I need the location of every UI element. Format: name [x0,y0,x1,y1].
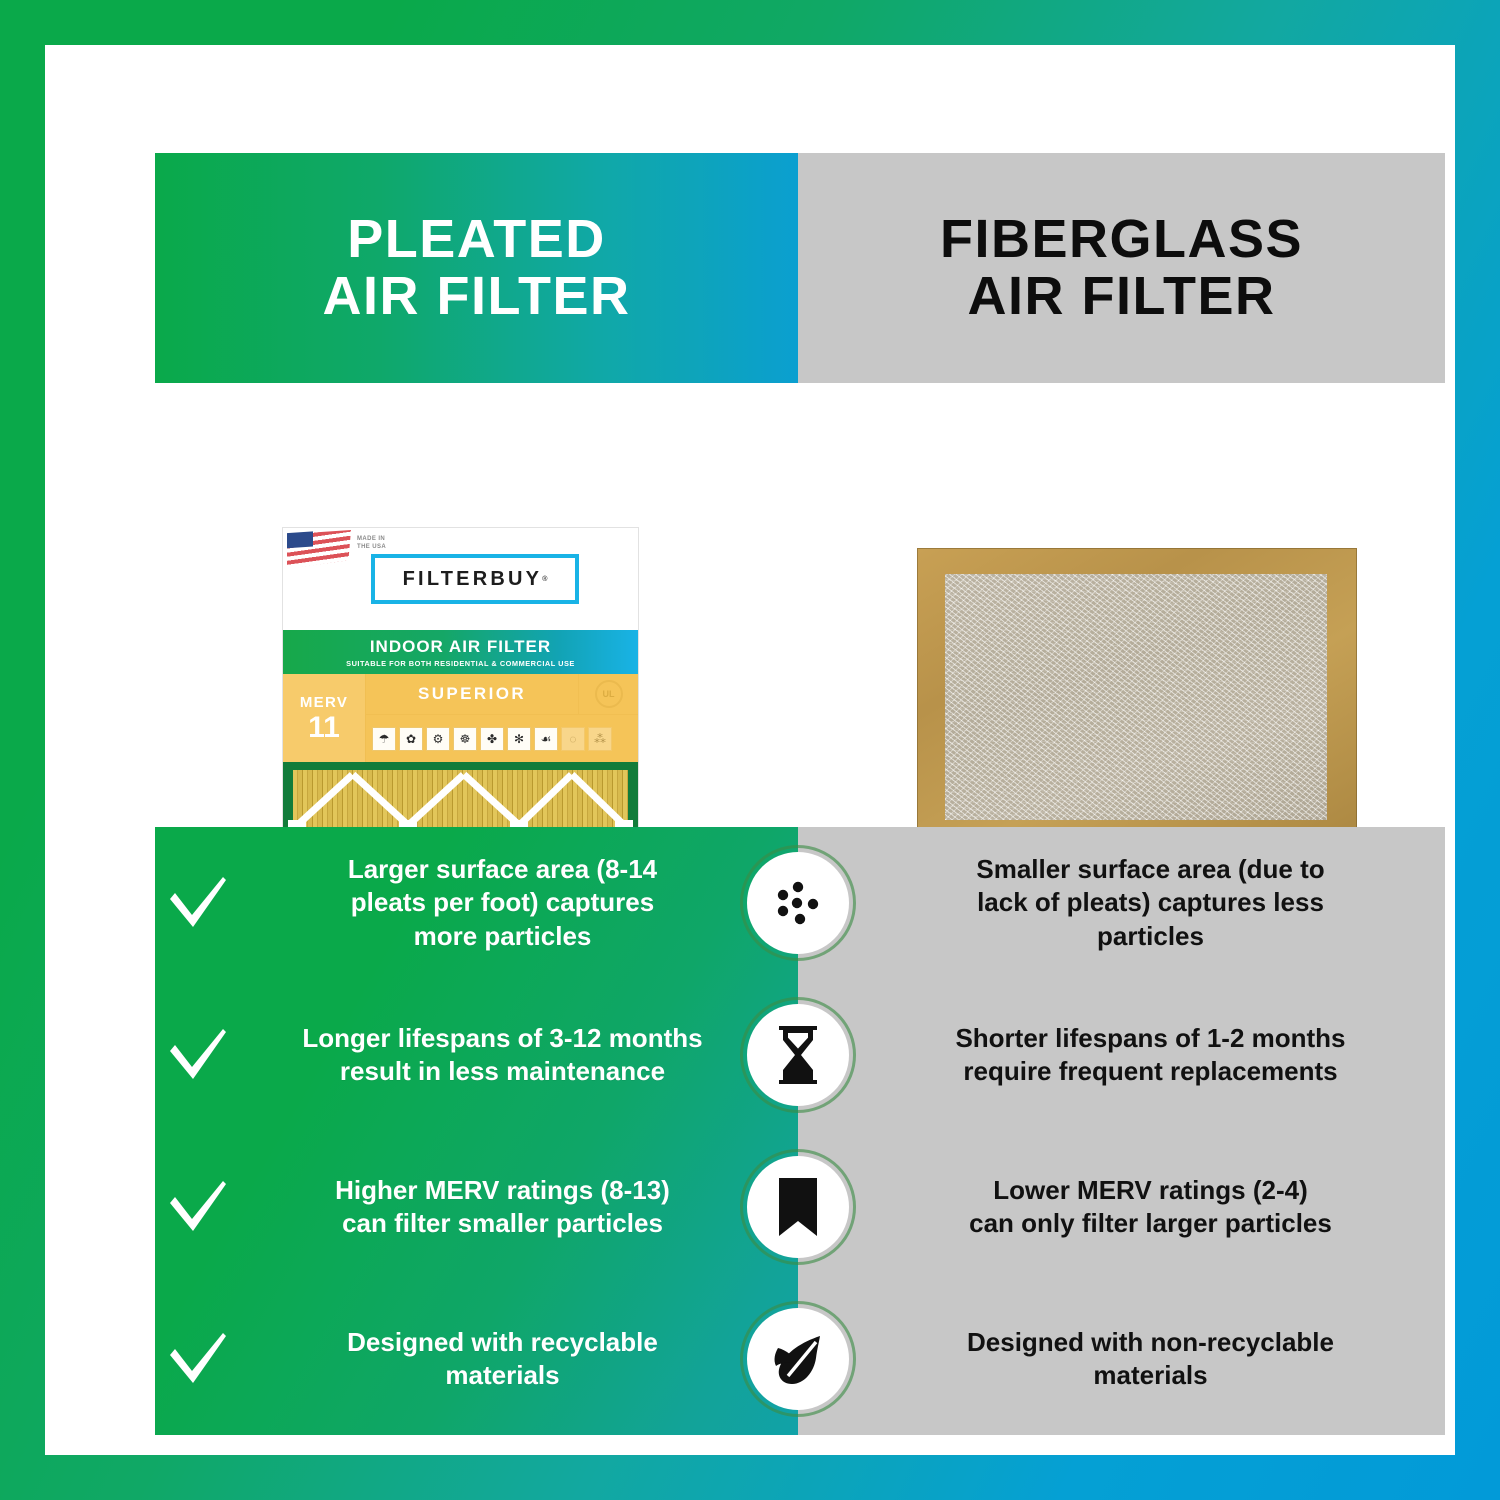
box-top-panel: MADE IN THE USA FILTERBUY® [283,528,638,630]
pleated-benefit-text: Larger surface area (8-14 pleats per foo… [241,853,798,953]
outer-gradient-border: PLEATED AIR FILTER FIBERGLASS AIR FILTER… [0,0,1500,1500]
pollen-icon: ✿ [399,727,423,751]
checkmark-icon [155,875,241,931]
pleated-benefit-text: Longer lifespans of 3-12 months result i… [241,1022,798,1089]
leaf-icon-badge [740,1301,856,1417]
usa-flag-union-icon [287,531,313,549]
capture-icons-strip: ☂✿⚙☸✤✻☙◌⁂ [366,715,644,762]
row-fiberglass-side: Lower MERV ratings (2-4) can only filter… [798,1131,1445,1283]
row-fiberglass-side: Designed with non-recyclable materials [798,1283,1445,1435]
hourglass-icon-badge [740,997,856,1113]
fiberglass-drawback-text: Designed with non-recyclable materials [798,1326,1445,1393]
comparison-row: Higher MERV ratings (8-13) can filter sm… [155,1131,1445,1283]
product-images-row: MADE IN THE USA FILTERBUY® INDOOR AIR FI… [155,383,1445,827]
row-pleated-side: Longer lifespans of 3-12 months result i… [155,979,798,1131]
particles-icon-badge [740,845,856,961]
band-subtitle: SUITABLE FOR BOTH RESIDENTIAL & COMMERCI… [346,659,575,668]
filterbuy-logo-text: FILTERBUY [403,568,543,591]
dust-icon: ☂ [372,727,396,751]
bookmark-icon-badge [740,1149,856,1265]
row-fiberglass-side: Shorter lifespans of 1-2 months require … [798,979,1445,1131]
checkmark-icon [155,1331,241,1387]
bacteria-icon: ☸ [453,727,477,751]
odor-icon: ◌ [561,727,585,751]
pleated-benefit-text: Designed with recyclable materials [241,1326,798,1393]
comparison-row: Longer lifespans of 3-12 months result i… [155,979,1445,1131]
header-pleated-title: PLEATED AIR FILTER [323,211,631,325]
merv-label: MERV [300,694,348,711]
made-in-usa-label: MADE IN THE USA [357,536,386,551]
particles-icon [767,872,829,934]
merv-band: MERV 11 SUPERIOR UL ☂✿⚙☸✤✻☙◌⁂ [283,674,638,762]
header-fiberglass-title: FIBERGLASS AIR FILTER [940,211,1303,325]
header-fiberglass: FIBERGLASS AIR FILTER [798,153,1445,383]
certification-seal-cell: UL [579,674,638,715]
smoke-icon: ☙ [534,727,558,751]
fiberglass-filter-image [917,548,1357,848]
row-fiberglass-side: Smaller surface area (due to lack of ple… [798,827,1445,979]
merv-value: 11 [308,713,340,743]
ul-seal-icon: UL [595,680,623,708]
indoor-air-filter-band: INDOOR AIR FILTER SUITABLE FOR BOTH RESI… [283,630,638,674]
smog-icon: ⁂ [588,727,612,751]
cardboard-frame [917,548,1357,848]
row-pleated-side: Higher MERV ratings (8-13) can filter sm… [155,1131,798,1283]
trademark-mark: ® [542,576,547,583]
comparison-row: Larger surface area (8-14 pleats per foo… [155,827,1445,979]
checkmark-icon [155,1027,241,1083]
hourglass-icon [767,1024,829,1086]
tier-label: SUPERIOR [418,684,526,704]
fiberglass-drawback-text: Lower MERV ratings (2-4) can only filter… [798,1174,1445,1241]
filterbuy-logo: FILTERBUY® [371,554,579,604]
fiberglass-media [945,574,1327,820]
header-row: PLEATED AIR FILTER FIBERGLASS AIR FILTER [155,153,1445,383]
infographic-stage: PLEATED AIR FILTER FIBERGLASS AIR FILTER… [155,153,1445,1435]
leaf-icon [767,1328,829,1390]
white-canvas: PLEATED AIR FILTER FIBERGLASS AIR FILTER… [45,45,1455,1455]
pet-dander-icon: ✻ [507,727,531,751]
checkmark-icon [155,1179,241,1235]
band-title: INDOOR AIR FILTER [370,637,551,657]
pleated-benefit-text: Higher MERV ratings (8-13) can filter sm… [241,1174,798,1241]
mold-spore-icon: ⚙ [426,727,450,751]
virus-icon: ✤ [480,727,504,751]
comparison-panel: Larger surface area (8-14 pleats per foo… [155,827,1445,1435]
tier-cell: SUPERIOR [366,674,579,715]
header-pleated: PLEATED AIR FILTER [155,153,798,383]
row-pleated-side: Larger surface area (8-14 pleats per foo… [155,827,798,979]
row-pleated-side: Designed with recyclable materials [155,1283,798,1435]
comparison-row: Designed with recyclable materialsDesign… [155,1283,1445,1435]
bookmark-icon [767,1176,829,1238]
fiberglass-drawback-text: Shorter lifespans of 1-2 months require … [798,1022,1445,1089]
merv-cell: MERV 11 [283,674,366,762]
fiberglass-drawback-text: Smaller surface area (due to lack of ple… [798,853,1445,953]
